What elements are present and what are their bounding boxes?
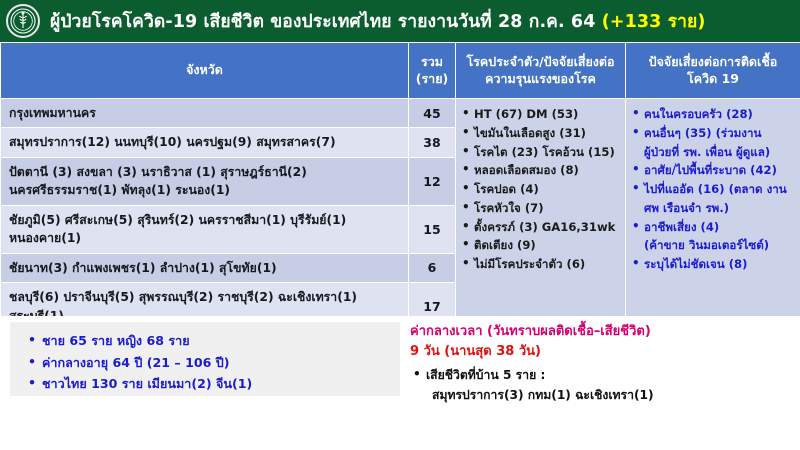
total-cell: 6 xyxy=(409,253,456,282)
total-cell: 12 xyxy=(409,157,456,205)
column-header-total: รวม (ราย) xyxy=(409,43,456,99)
riskfactor-item-label: อาชีพเสี่ยง (4) xyxy=(644,220,719,234)
riskfactor-item: อาชีพเสี่ยง (4)(ค้าขาย วินมอเตอร์ไซต์) xyxy=(630,218,794,256)
column-header-total-line2: (ราย) xyxy=(413,71,451,88)
time-to-death-value: 9 วัน (นานสุด 38 วัน) xyxy=(410,342,790,363)
column-header-province: จังหวัด xyxy=(1,43,409,99)
comorbidity-item: ไม่มีโรคประจำตัว (6) xyxy=(460,255,619,274)
total-cell: 38 xyxy=(409,128,456,157)
column-header-comorbidity-line1: โรคประจำตัว/ปัจจัยเสี่ยงต่อ xyxy=(460,54,621,71)
deaths-by-province-table: จังหวัด รวม (ราย) โรคประจำตัว/ปัจจัยเสี่… xyxy=(0,42,800,331)
province-cell: ปัตตานี (3) สงขลา (3) นราธิวาส (1) สุราษ… xyxy=(1,157,409,205)
home-deaths-label: เสียชีวิตที่บ้าน 5 ราย : xyxy=(426,368,545,382)
province-cell: กรุงเทพมหานคร xyxy=(1,99,409,128)
comorbidity-item: โรคหัวใจ (7) xyxy=(460,199,619,218)
riskfactor-item-label: คนอื่นๆ (35) (ร่วมงาน xyxy=(644,126,761,140)
comorbidity-item: หลอดเลือดสมอง (8) xyxy=(460,161,619,180)
column-header-riskfactor-line1: ปัจจัยเสี่ยงต่อการติดเชื้อ xyxy=(630,54,796,71)
comorbidity-item: โรคไต (23) โรคอ้วน (15) xyxy=(460,143,619,162)
riskfactor-list: คนในครอบครัว (28)คนอื่นๆ (35) (ร่วมงานผู… xyxy=(630,105,794,274)
moph-caduceus-emblem-icon xyxy=(6,4,40,38)
demographics-list: ชาย 65 ราย หญิง 68 รายค่ากลางอายุ 64 ปี … xyxy=(26,330,390,395)
riskfactor-item-label: ระบุได้ไม่ชัดเจน (8) xyxy=(644,257,747,271)
column-header-riskfactor: ปัจจัยเสี่ยงต่อการติดเชื้อ โควิด 19 xyxy=(626,43,800,99)
riskfactor-item: อาศัย/ไปพื้นที่ระบาด (42) xyxy=(630,161,794,180)
comorbidity-item: โรคปอด (4) xyxy=(460,180,619,199)
province-cell-line1: ปัตตานี (3) สงขลา (3) นราธิวาส (1) สุราษ… xyxy=(9,163,400,181)
summary-section: ชาย 65 ราย หญิง 68 รายค่ากลางอายุ 64 ปี … xyxy=(0,316,800,450)
table-row: กรุงเทพมหานคร 45 HT (67) DM (53)ไขมันในเ… xyxy=(1,99,800,128)
column-header-comorbidity: โรคประจำตัว/ปัจจัยเสี่ยงต่อ ความรุนแรงขอ… xyxy=(456,43,626,99)
province-cell: ชัยนาท(3) กำแพงเพชร(1) ลำปาง(1) สุโขทัย(… xyxy=(1,253,409,282)
riskfactor-item: ระบุได้ไม่ชัดเจน (8) xyxy=(630,255,794,274)
demographics-item: ชาย 65 ราย หญิง 68 ราย xyxy=(26,330,390,352)
riskfactor-item-label: คนในครอบครัว (28) xyxy=(644,107,753,121)
time-to-death-heading: ค่ากลางเวลา (วันทราบผลติดเชื้อ–เสียชีวิต… xyxy=(410,322,790,342)
total-cell: 45 xyxy=(409,99,456,128)
riskfactor-item-detail: ผู้ป่วยที่ รพ. เพื่อน ผู้ดูแล) xyxy=(644,143,794,162)
page-header: ผู้ป่วยโรคโควิด-19 เสียชีวิต ของประเทศไท… xyxy=(0,0,800,42)
riskfactor-item-detail: (ค้าขาย วินมอเตอร์ไซต์) xyxy=(644,236,794,255)
comorbidity-item: ไขมันในเลือดสูง (31) xyxy=(460,124,619,143)
column-header-comorbidity-line2: ความรุนแรงของโรค xyxy=(460,71,621,88)
comorbidity-item: ติดเตียง (9) xyxy=(460,236,619,255)
page-title-main: ผู้ป่วยโรคโควิด-19 เสียชีวิต ของประเทศไท… xyxy=(50,12,596,32)
column-header-total-line1: รวม xyxy=(413,54,451,71)
riskfactor-item: คนในครอบครัว (28) xyxy=(630,105,794,124)
column-header-riskfactor-line2: โควิด 19 xyxy=(630,71,796,88)
riskfactor-cell: คนในครอบครัว (28)คนอื่นๆ (35) (ร่วมงานผู… xyxy=(626,99,800,331)
comorbidity-list: HT (67) DM (53)ไขมันในเลือดสูง (31)โรคไต… xyxy=(460,105,619,274)
page-title: ผู้ป่วยโรคโควิด-19 เสียชีวิต ของประเทศไท… xyxy=(50,7,705,35)
demographics-item: ชาวไทย 130 ราย เมียนมา(2) จีน(1) xyxy=(26,373,390,395)
province-cell: ชัยภูมิ(5) ศรีสะเกษ(5) สุรินทร์(2) นครรา… xyxy=(1,205,409,253)
home-deaths-item: เสียชีวิตที่บ้าน 5 ราย : สมุทรปราการ(3) … xyxy=(410,366,790,405)
riskfactor-item-detail: ศพ เรือนจำ รพ.) xyxy=(644,199,794,218)
comorbidity-item: ตั้งครรภ์ (3) GA16,31wk xyxy=(460,218,619,237)
riskfactor-item: คนอื่นๆ (35) (ร่วมงานผู้ป่วยที่ รพ. เพื่… xyxy=(630,124,794,162)
riskfactor-item: ไปที่แออัด (16) (ตลาด งานศพ เรือนจำ รพ.) xyxy=(630,180,794,218)
home-deaths-detail: สมุทรปราการ(3) กทม(1) ฉะเชิงเทรา(1) xyxy=(426,386,790,406)
total-cell: 15 xyxy=(409,205,456,253)
riskfactor-item-label: ไปที่แออัด (16) (ตลาด งาน xyxy=(644,182,787,196)
page-title-highlight: (+133 ราย) xyxy=(602,12,706,32)
comorbidity-cell: HT (67) DM (53)ไขมันในเลือดสูง (31)โรคไต… xyxy=(456,99,626,331)
home-deaths-list: เสียชีวิตที่บ้าน 5 ราย : สมุทรปราการ(3) … xyxy=(410,366,790,405)
comorbidity-item: HT (67) DM (53) xyxy=(460,105,619,124)
time-to-death-panel: ค่ากลางเวลา (วันทราบผลติดเชื้อ–เสียชีวิต… xyxy=(410,322,790,405)
table-header-row: จังหวัด รวม (ราย) โรคประจำตัว/ปัจจัยเสี่… xyxy=(1,43,800,99)
riskfactor-item-label: อาศัย/ไปพื้นที่ระบาด (42) xyxy=(644,163,777,177)
demographics-item: ค่ากลางอายุ 64 ปี (21 – 106 ปี) xyxy=(26,352,390,374)
province-cell-line2: นครศรีธรรมราช(1) พัทลุง(1) ระนอง(1) xyxy=(9,181,400,199)
demographics-panel: ชาย 65 ราย หญิง 68 รายค่ากลางอายุ 64 ปี … xyxy=(10,322,400,396)
province-cell: สมุทรปราการ(12) นนทบุรี(10) นครปฐม(9) สม… xyxy=(1,128,409,157)
